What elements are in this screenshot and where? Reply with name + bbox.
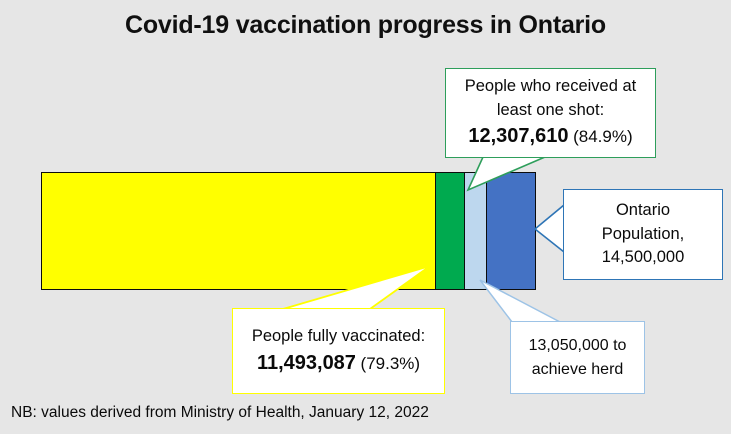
page-title: Covid-19 vaccination progress in Ontario: [100, 10, 631, 41]
callout-one-shot-value: 12,307,610: [468, 125, 568, 147]
bar-segment-one-shot-additional: [435, 172, 465, 290]
callout-one-shot-percent: (84.9%): [573, 127, 633, 146]
bar-segment-remaining-population: [486, 172, 536, 290]
title-line-1: Covid-19 vaccination progress in: [125, 11, 512, 39]
callout-one-shot-value-row: 12,307,610 (84.9%): [452, 122, 649, 150]
callout-one-shot-line-1: People who received at: [452, 75, 649, 98]
callout-one-shot-line-2: least one shot:: [452, 99, 649, 122]
callout-herd-line-1: 13,050,000 to: [511, 334, 644, 357]
callout-population-line-2: Population,: [564, 223, 722, 247]
title-line-2: Ontario: [519, 11, 607, 39]
callout-fully-vaccinated-line-1: People fully vaccinated:: [238, 324, 439, 349]
callout-fully-vaccinated-value: 11,493,087: [257, 352, 356, 374]
callout-fully-vaccinated: People fully vaccinated: 11,493,087 (79.…: [232, 308, 445, 394]
callout-herd-immunity: 13,050,000 to achieve herd: [510, 321, 645, 394]
callout-herd-line-2: achieve herd: [511, 358, 644, 381]
source-note: NB: values derived from Ministry of Heal…: [11, 404, 429, 422]
vaccination-progress-bar: [41, 172, 541, 290]
callout-population: Ontario Population, 14,500,000: [563, 189, 723, 280]
callout-population-line-1: Ontario: [564, 199, 722, 223]
callout-fully-vaccinated-percent: (79.3%): [361, 354, 421, 373]
bar-segment-fully-vaccinated: [41, 172, 437, 290]
callout-one-shot: People who received at least one shot: 1…: [445, 68, 656, 158]
bar-segment-gap-to-herd: [464, 172, 488, 290]
callout-fully-vaccinated-value-row: 11,493,087 (79.3%): [238, 348, 439, 378]
callout-population-line-3: 14,500,000: [564, 246, 722, 270]
infographic-canvas: Covid-19 vaccination progress in Ontario…: [0, 0, 731, 434]
